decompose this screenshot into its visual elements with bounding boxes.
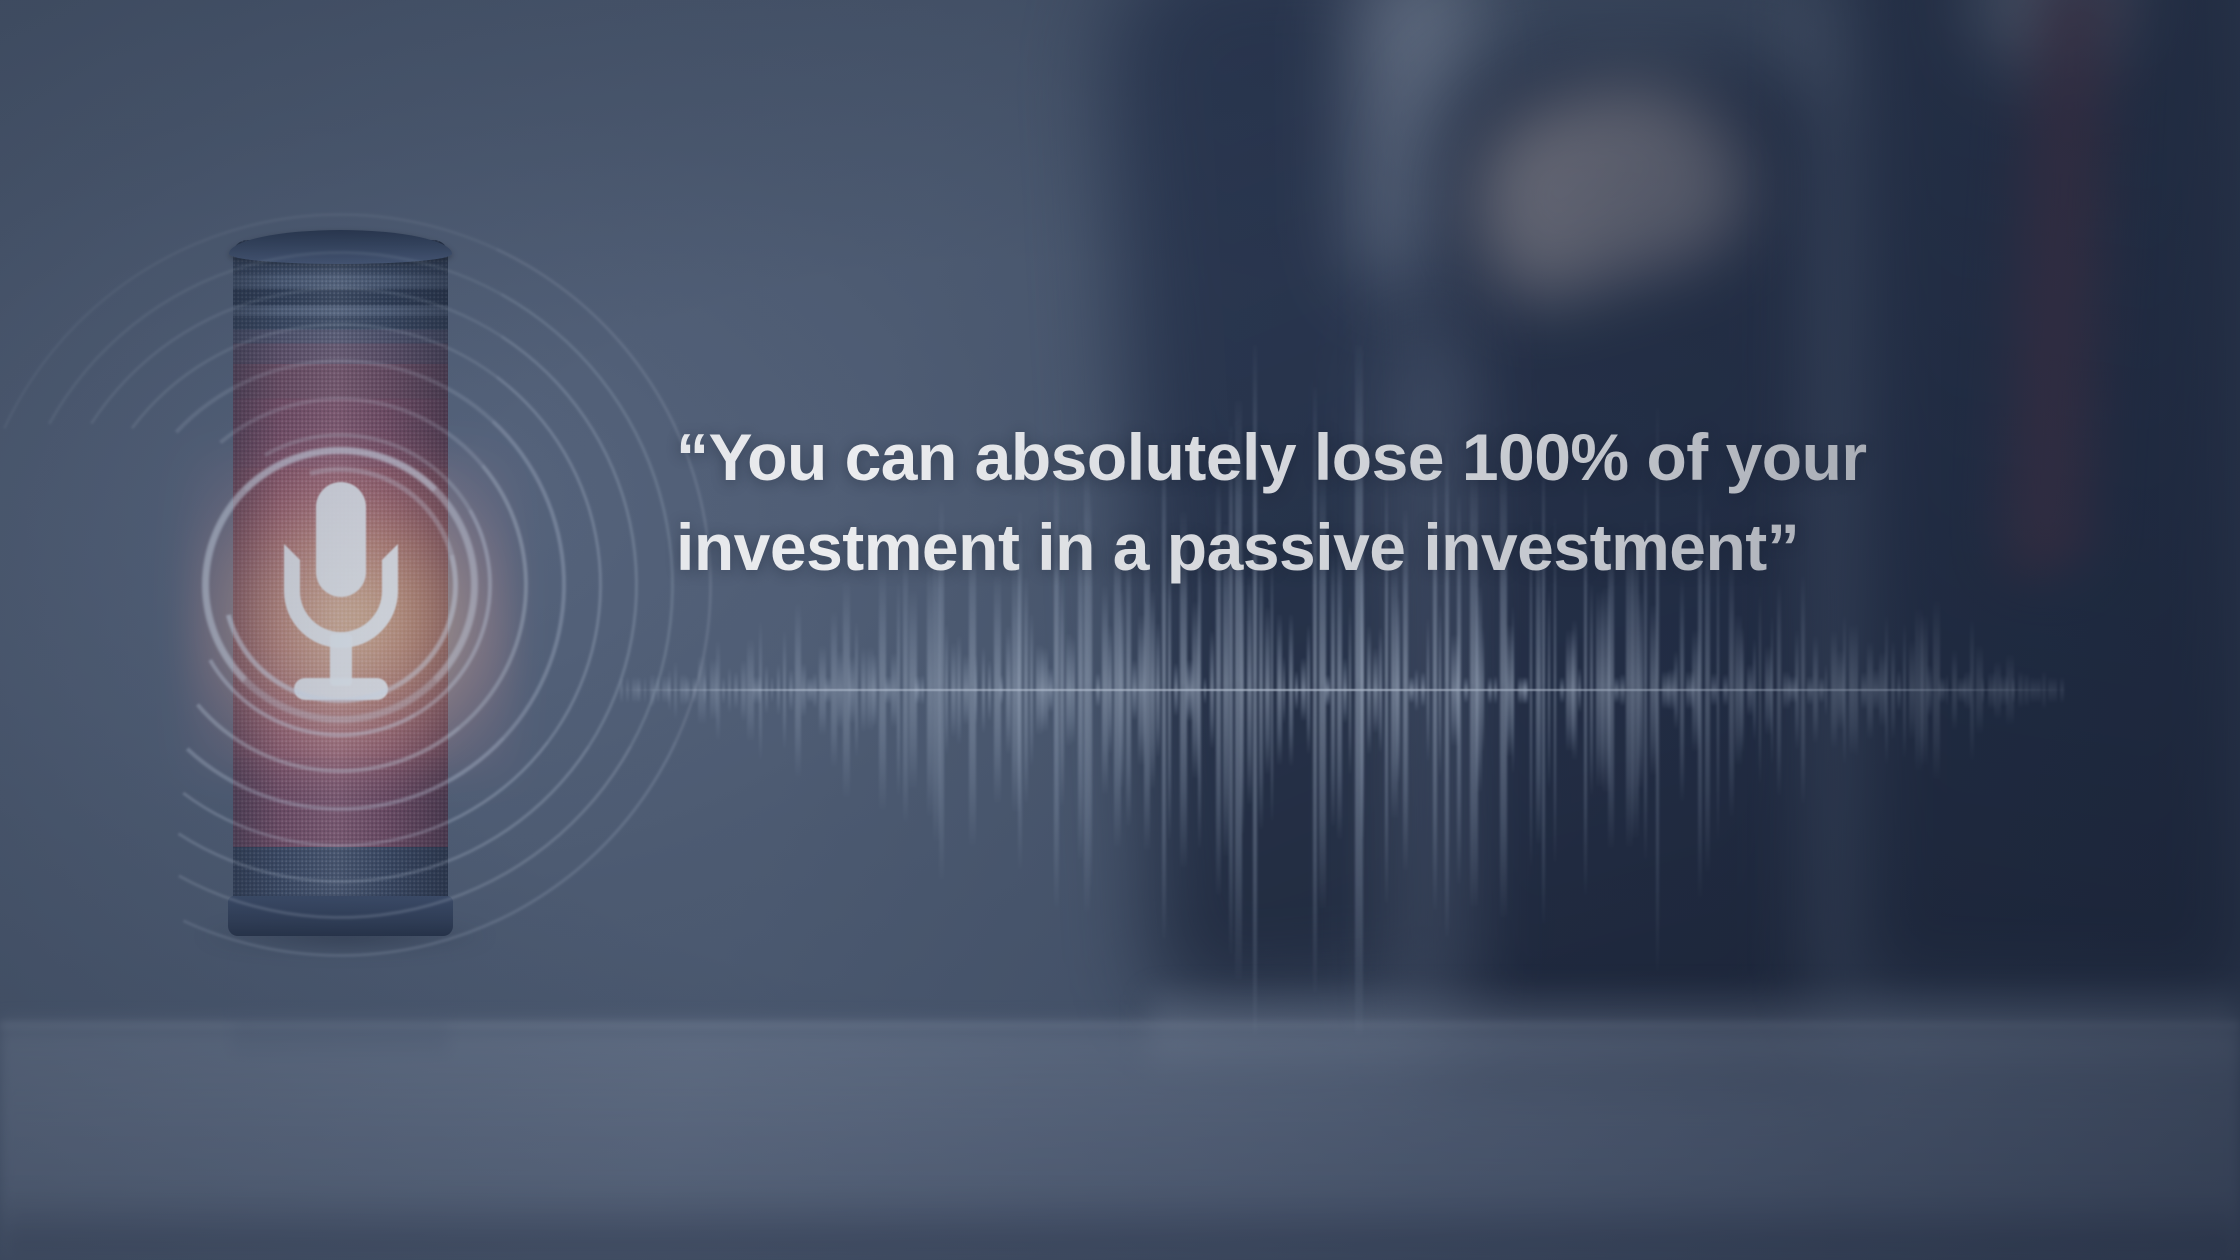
table-floor-shadow bbox=[0, 1190, 2240, 1260]
quote-block: “You can absolutely lose 100% of your in… bbox=[676, 412, 2016, 592]
smart-speaker-group bbox=[0, 100, 700, 1160]
slide-canvas: “You can absolutely lose 100% of your in… bbox=[0, 0, 2240, 1260]
quote-line-1: “You can absolutely lose 100% of your bbox=[676, 412, 2016, 502]
quote-line-2: investment in a passive investment” bbox=[676, 502, 2016, 592]
sound-ring-inner-bright bbox=[202, 447, 478, 723]
